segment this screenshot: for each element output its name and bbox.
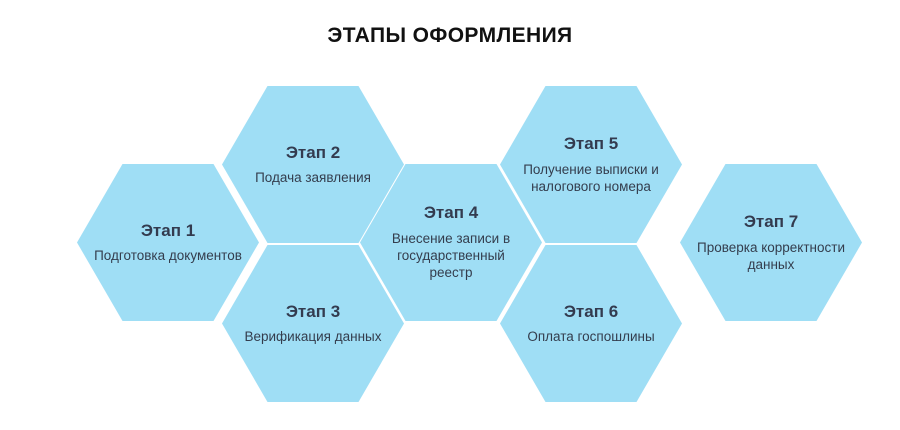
step-4-description: Внесение записи в государственный реестр	[374, 230, 528, 282]
step-4-title: Этап 4	[424, 203, 478, 223]
step-6-title: Этап 6	[564, 302, 618, 322]
process-infographic: ЭТАПЫ ОФОРМЛЕНИЯ Этап 1 Подготовка докум…	[0, 0, 900, 430]
page-title: ЭТАПЫ ОФОРМЛЕНИЯ	[0, 24, 900, 48]
step-2-title: Этап 2	[286, 143, 340, 163]
step-3-description: Верификация данных	[244, 328, 381, 345]
step-2-description: Подача заявления	[255, 169, 371, 186]
step-5-title: Этап 5	[564, 134, 618, 154]
step-5-description: Получение выписки и налогового номера	[514, 161, 668, 196]
step-hexagon-1: Этап 1 Подготовка документов	[77, 164, 259, 321]
step-6-description: Оплата госпошлины	[527, 328, 654, 345]
step-7-description: Проверка корректности данных	[694, 239, 848, 274]
step-hexagon-7: Этап 7 Проверка корректности данных	[680, 164, 862, 321]
step-3-title: Этап 3	[286, 302, 340, 322]
step-1-title: Этап 1	[141, 221, 195, 241]
step-7-title: Этап 7	[744, 212, 798, 232]
step-1-description: Подготовка документов	[94, 247, 242, 264]
step-hexagon-6: Этап 6 Оплата госпошлины	[500, 245, 682, 402]
